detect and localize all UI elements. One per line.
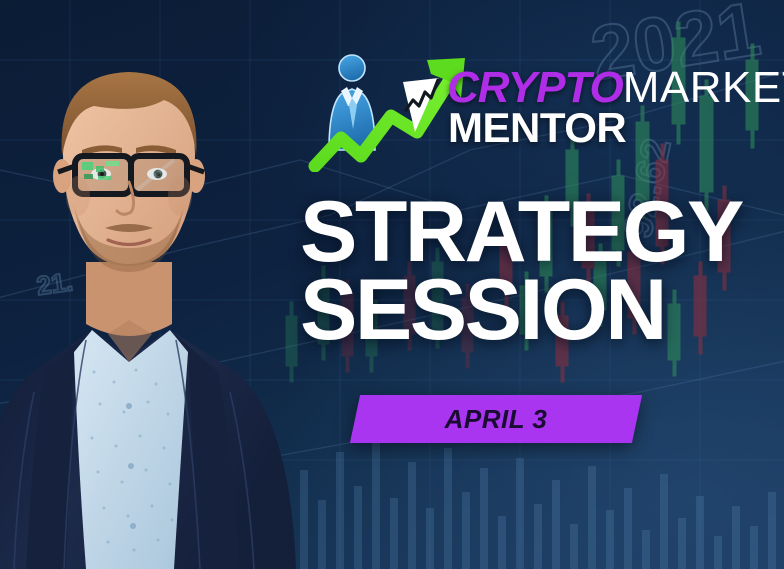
headline-block: STRATEGY SESSION: [300, 196, 776, 348]
brand-word-mentor: MENTOR: [448, 104, 626, 151]
brand-word-market: MARKET: [623, 63, 784, 112]
brand-wordmark-line-2: MENTOR: [448, 107, 626, 149]
presenter-portrait: [0, 0, 304, 569]
headline-line-2: SESSION: [300, 274, 776, 348]
brand-wordmark: CRYPTOMARKET MENTOR: [447, 66, 777, 172]
date-banner-label: APRIL 3: [355, 395, 637, 443]
headline-line-1: STRATEGY: [300, 196, 776, 270]
brand-logo: CRYPTOMARKET MENTOR: [305, 46, 775, 172]
thumbnail-canvas: 2021 92.62 21.: [0, 0, 784, 569]
